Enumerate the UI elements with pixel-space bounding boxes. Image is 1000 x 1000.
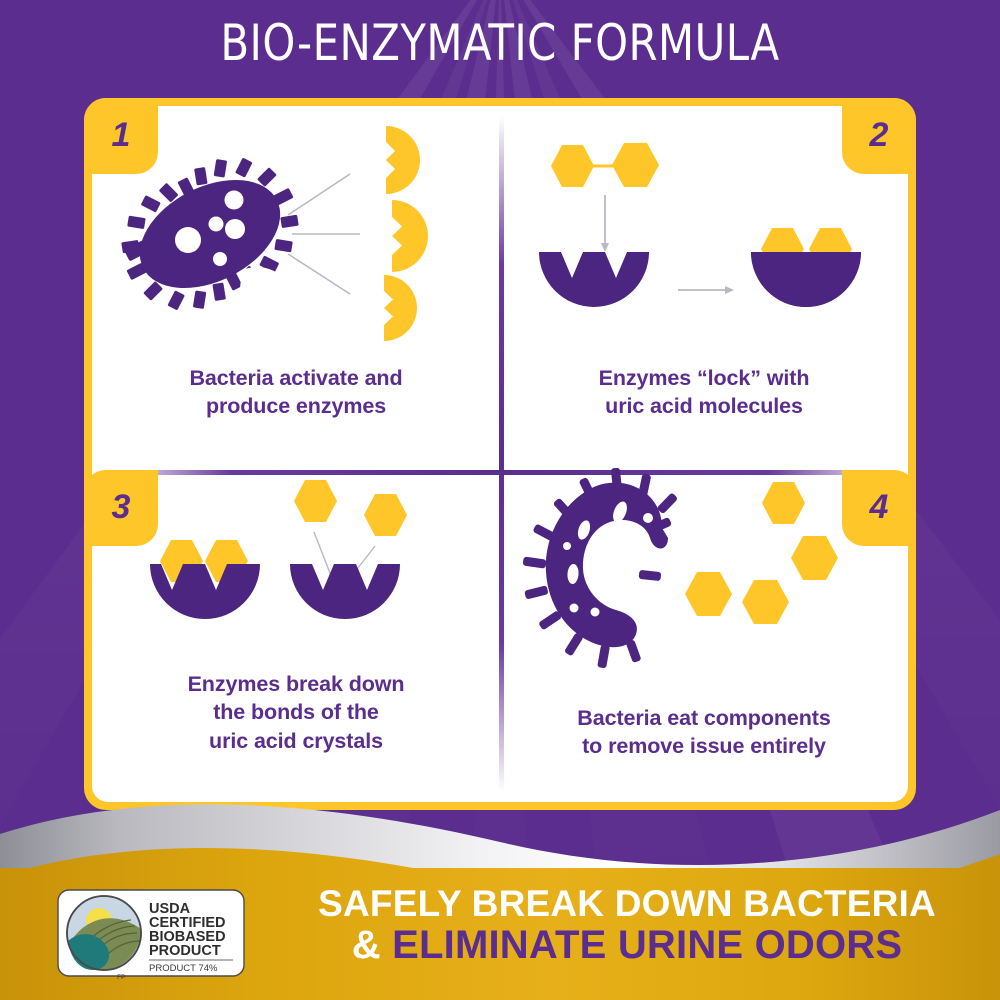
step-1-caption-line-2: produce enzymes	[206, 394, 386, 418]
step-4-caption-line-1: Bacteria eat components	[577, 706, 830, 730]
seal-percent: PRODUCT 74%	[149, 963, 218, 974]
card-inner: Bacteria activate and produce enzymes	[92, 106, 908, 802]
steps-card: Bacteria activate and produce enzymes	[84, 98, 916, 810]
usda-biobased-seal: USDA CERTIFIED BIOBASED PRODUCT PRODUCT …	[57, 889, 245, 981]
step-3-caption-line-2: the bonds of the	[213, 700, 379, 724]
tagline-line-1: SAFELY BREAK DOWN BACTERIA	[262, 884, 992, 924]
step-1-caption: Bacteria activate and produce enzymes	[116, 364, 476, 421]
step-1-caption-line-1: Bacteria activate and	[189, 366, 402, 390]
step-4-caption-line-2: to remove issue entirely	[582, 734, 826, 758]
seal-line-product: PRODUCT	[149, 943, 221, 959]
step-3-caption: Enzymes break down the bonds of the uric…	[116, 670, 476, 755]
tagline-line-2: & ELIMINATE URINE ODORS	[262, 924, 992, 967]
empty-enzyme-bowl-right	[290, 564, 400, 619]
page-title: BIO-ENZYMATIC FORMULA	[35, 14, 965, 72]
step-3-caption-line-3: uric acid crystals	[209, 729, 383, 753]
empty-enzyme-bowl	[539, 252, 649, 307]
banner-tagline: SAFELY BREAK DOWN BACTERIA & ELIMINATE U…	[262, 884, 992, 966]
step-3-caption-line-1: Enzymes break down	[188, 672, 405, 696]
step-number-3: 3	[112, 488, 131, 527]
filled-enzyme-bowl-left	[150, 540, 260, 619]
tagline-line-2-rest: ELIMINATE URINE ODORS	[392, 923, 902, 967]
enzyme-glyphs	[384, 126, 428, 341]
step-number-badge-4: 4	[842, 470, 916, 546]
seal-fp-mark: FP	[117, 974, 125, 981]
step-number-badge-3: 3	[84, 470, 158, 546]
step-number-2: 2	[870, 116, 889, 155]
step-4-caption: Bacteria eat components to remove issue …	[524, 704, 884, 761]
step-number-badge-1: 1	[84, 98, 158, 174]
step-number-4: 4	[870, 488, 889, 527]
step-number-1: 1	[112, 116, 131, 155]
step-2-caption: Enzymes “lock” with uric acid molecules	[524, 364, 884, 421]
bacterium-glyph	[523, 468, 679, 668]
filled-enzyme-bowl	[751, 228, 861, 307]
infographic-canvas: BIO-ENZYMATIC FORMULA	[0, 0, 1000, 1000]
tagline-ampersand: &	[352, 923, 381, 967]
step-2-caption-line-1: Enzymes “lock” with	[599, 366, 810, 390]
step-number-badge-2: 2	[842, 98, 916, 174]
step-2-caption-line-2: uric acid molecules	[605, 394, 803, 418]
